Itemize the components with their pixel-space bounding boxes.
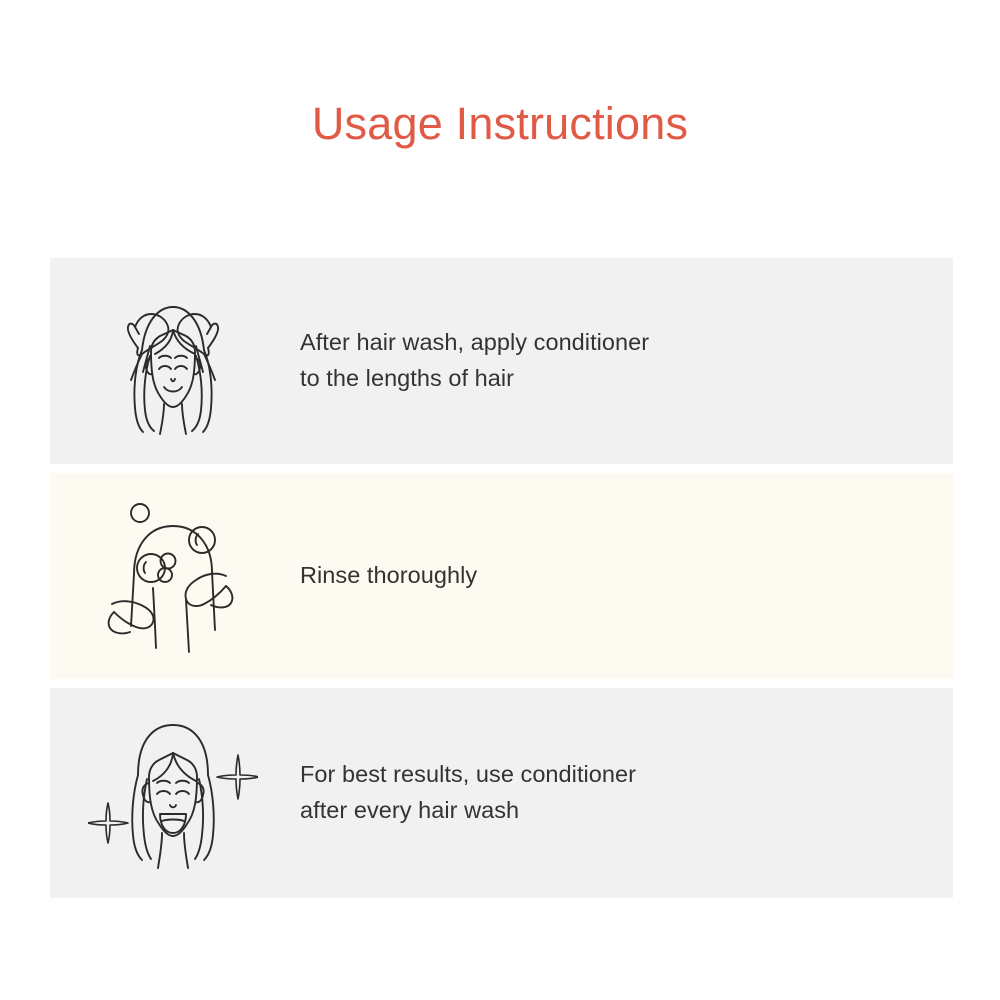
woman-massaging-hair-icon bbox=[50, 258, 295, 464]
step-text-line: Rinse thoroughly bbox=[300, 558, 477, 594]
page-title: Usage Instructions bbox=[0, 98, 1000, 150]
step-text-line: to the lengths of hair bbox=[300, 361, 649, 397]
steps-list: After hair wash, apply conditioner to th… bbox=[50, 258, 953, 907]
step-row: Rinse thoroughly bbox=[50, 473, 953, 679]
step-row: After hair wash, apply conditioner to th… bbox=[50, 258, 953, 464]
woman-smiling-sparkles-icon bbox=[50, 688, 295, 898]
person-rinsing-lather-bubbles-icon bbox=[50, 473, 295, 679]
usage-instructions-page: Usage Instructions bbox=[0, 0, 1000, 1000]
step-text-line: After hair wash, apply conditioner bbox=[300, 325, 649, 361]
step-text: After hair wash, apply conditioner to th… bbox=[295, 325, 649, 396]
step-row: For best results, use conditioner after … bbox=[50, 688, 953, 898]
step-text-line: after every hair wash bbox=[300, 793, 636, 829]
step-text: Rinse thoroughly bbox=[295, 558, 477, 594]
step-text-line: For best results, use conditioner bbox=[300, 757, 636, 793]
step-text: For best results, use conditioner after … bbox=[295, 757, 636, 828]
